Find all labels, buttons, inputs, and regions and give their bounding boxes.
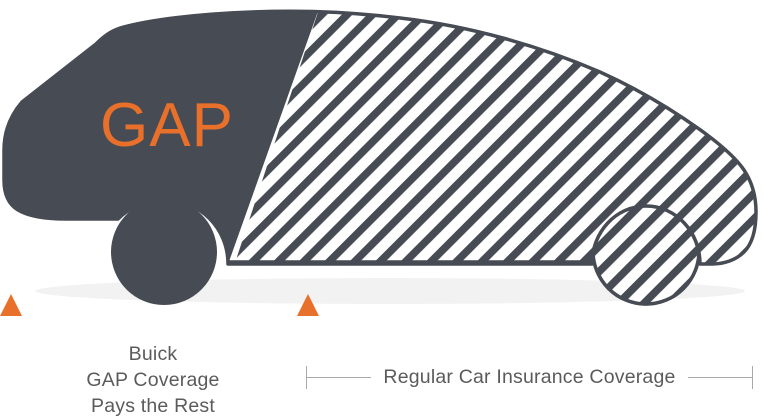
- gap-caption-line-1: Buick: [0, 341, 306, 367]
- coverage-bracket-tick-right: [752, 366, 753, 389]
- regular-coverage-caption: Regular Car Insurance Coverage: [306, 364, 753, 390]
- gap-caption-line-2: GAP Coverage: [0, 367, 306, 393]
- diagram-canvas: GAP Buick GAP Coverage Pays the Rest Reg…: [0, 0, 770, 416]
- gap-caption-line-3: Pays the Rest: [0, 393, 306, 419]
- coverage-bracket-tick-left: [306, 366, 307, 389]
- regular-coverage-label: Regular Car Insurance Coverage: [371, 364, 687, 390]
- front-wheel: [111, 199, 217, 305]
- gap-coverage-caption: Buick GAP Coverage Pays the Rest: [0, 341, 306, 419]
- marker-left-icon: [0, 294, 22, 316]
- gap-label: GAP: [100, 91, 234, 160]
